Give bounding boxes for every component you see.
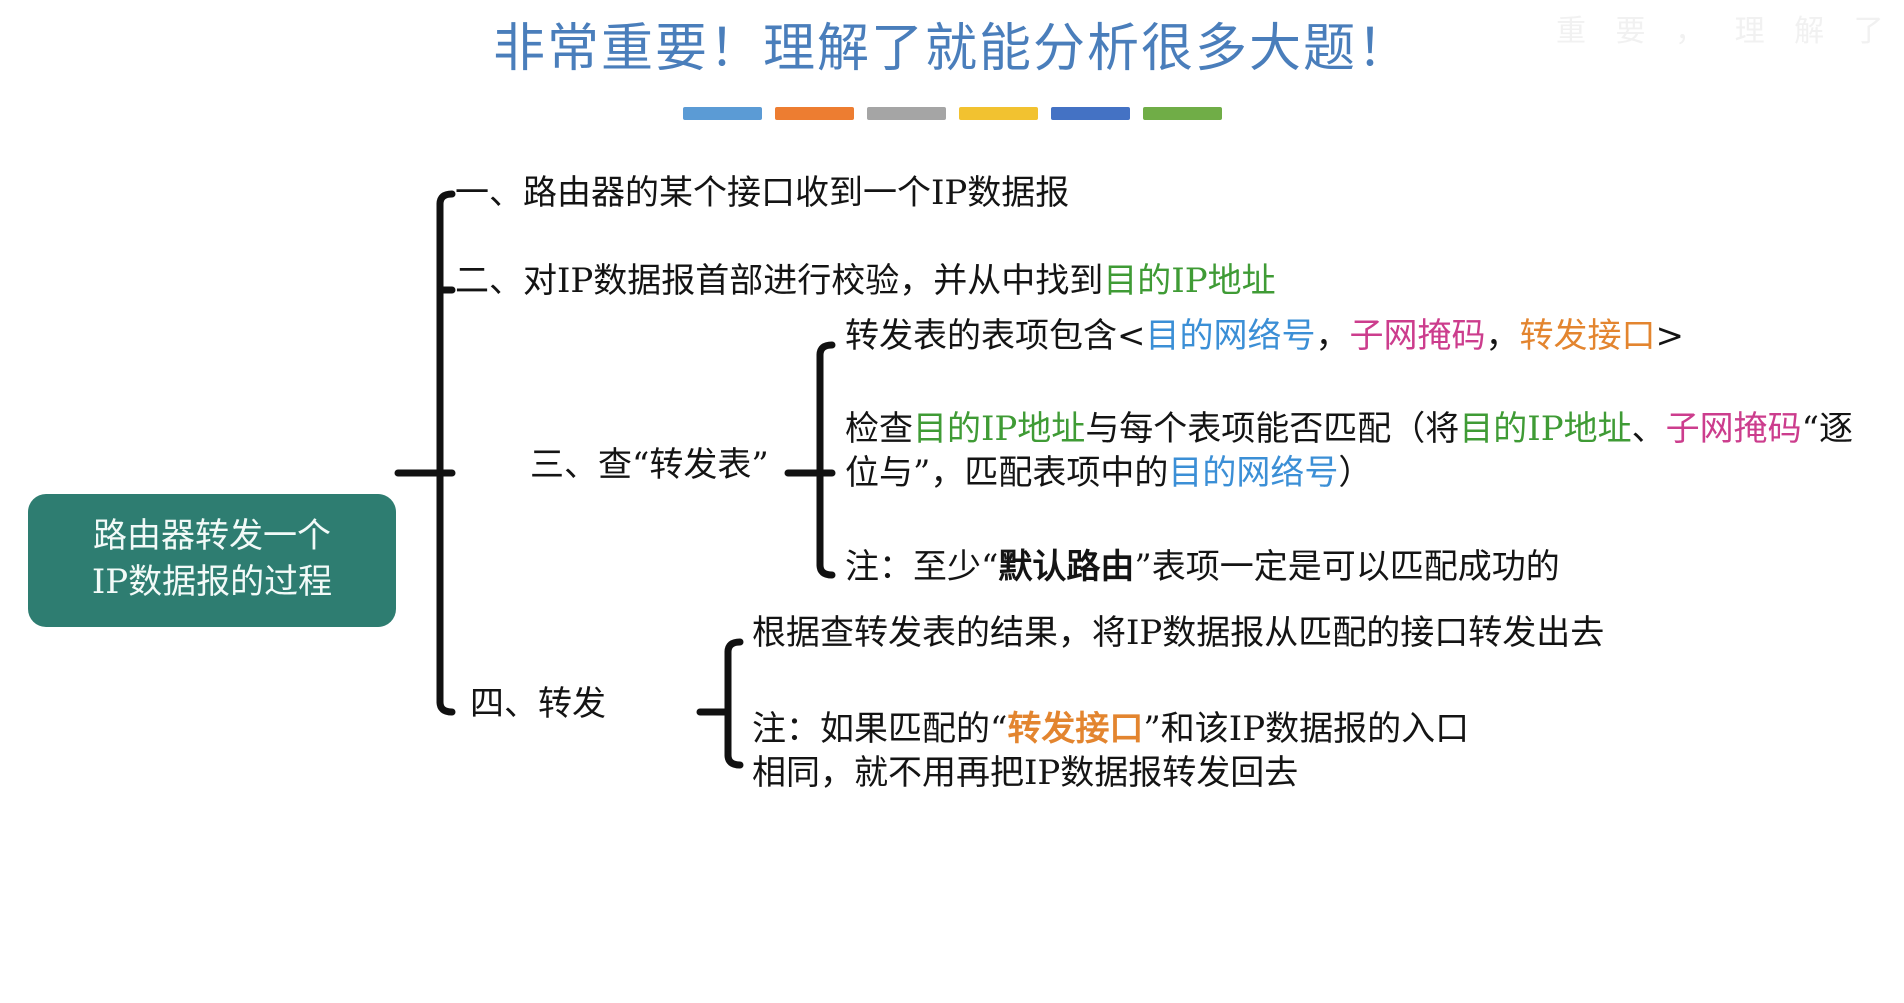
branch-4-item-same-interface-note[interactable]: 注：如果匹配的“转发接口”和该IP数据报的入口 相同，就不用再把IP数据报转发回… bbox=[752, 708, 1469, 795]
branch-3-item-default-route-note[interactable]: 注：至少“默认路由”表项一定是可以匹配成功的 bbox=[845, 546, 1560, 590]
accent-bar-green bbox=[1143, 107, 1222, 120]
branch-3-label[interactable]: 三、查“转发表” bbox=[530, 444, 769, 488]
mr-subnet-mask: 子网掩码 bbox=[1666, 409, 1802, 449]
branch-3-item-matching-rule[interactable]: 检查目的IP地址与每个表项能否匹配（将目的IP地址、子网掩码“逐位与”，匹配表项… bbox=[845, 408, 1880, 495]
branch-2-highlight: 目的IP地址 bbox=[1103, 261, 1275, 301]
mr-part-1: 检查 bbox=[845, 409, 913, 449]
branch-4-item-forward-result[interactable]: 根据查转发表的结果，将IP数据报从匹配的接口转发出去 bbox=[752, 612, 1604, 656]
accent-bar-row bbox=[0, 107, 1904, 120]
page-title: 非常重要！理解了就能分析很多大题！ bbox=[0, 6, 1904, 81]
sin-line-1: 注：如果匹配的“转发接口”和该IP数据报的入口 bbox=[752, 708, 1469, 752]
branch-4-label[interactable]: 四、转发 bbox=[470, 683, 606, 727]
accent-bar-darkblue bbox=[1051, 107, 1130, 120]
mr-part-3: 、 bbox=[1632, 409, 1666, 449]
mr-dest-ip-1: 目的IP地址 bbox=[913, 409, 1085, 449]
branch-2-label[interactable]: 二、对IP数据报首部进行校验，并从中找到目的IP地址 bbox=[455, 260, 1276, 304]
root-node-line1: 路由器转发一个 bbox=[38, 514, 386, 560]
branch-3-item-forwarding-table-entry[interactable]: 转发表的表项包含<目的网络号，子网掩码，转发接口> bbox=[845, 315, 1684, 359]
drn-default-route: 默认路由 bbox=[998, 547, 1134, 587]
drn-part-1: 注：至少“ bbox=[845, 547, 998, 587]
connector-l1-bottom bbox=[440, 702, 452, 712]
accent-bar-orange bbox=[775, 107, 854, 120]
drn-part-2: ”表项一定是可以匹配成功的 bbox=[1134, 547, 1559, 587]
mr-dest-ip-2: 目的IP地址 bbox=[1459, 409, 1631, 449]
mindmap: 路由器转发一个 IP数据报的过程 一、路由器的某个接口收到一个IP数据报 二、对… bbox=[0, 150, 1904, 1003]
fte-part-2: ， bbox=[1316, 316, 1350, 356]
sin-line-2: 相同，就不用再把IP数据报转发回去 bbox=[752, 752, 1469, 796]
fte-part-1: 转发表的表项包含< bbox=[845, 316, 1146, 356]
connector-b3-bottom bbox=[820, 565, 832, 575]
header: 重 要 ， 理 解 了 就 能 非常重要！理解了就能分析很多大题！ bbox=[0, 0, 1904, 150]
root-node-line2: IP数据报的过程 bbox=[38, 560, 386, 606]
sin-part-2: ”和该IP数据报的入口 bbox=[1143, 709, 1469, 749]
fte-forward-port: 转发接口 bbox=[1520, 316, 1656, 356]
accent-bar-yellow bbox=[959, 107, 1038, 120]
fte-dest-network: 目的网络号 bbox=[1146, 316, 1316, 356]
accent-bar-gray bbox=[867, 107, 946, 120]
sin-forward-port: 转发接口 bbox=[1007, 709, 1143, 749]
mr-dest-network: 目的网络号 bbox=[1168, 453, 1338, 493]
mr-part-2: 与每个表项能否匹配（将 bbox=[1085, 409, 1459, 449]
accent-bar-blue bbox=[683, 107, 762, 120]
branch-1-label[interactable]: 一、路由器的某个接口收到一个IP数据报 bbox=[455, 172, 1069, 216]
sin-part-1: 注：如果匹配的“ bbox=[752, 709, 1007, 749]
fte-part-3: ， bbox=[1486, 316, 1520, 356]
root-node[interactable]: 路由器转发一个 IP数据报的过程 bbox=[28, 494, 396, 627]
branch-2-prefix: 二、对IP数据报首部进行校验，并从中找到 bbox=[455, 261, 1103, 301]
mr-part-5: ） bbox=[1338, 453, 1372, 493]
fte-part-4: > bbox=[1656, 316, 1685, 356]
fte-subnet-mask: 子网掩码 bbox=[1350, 316, 1486, 356]
connector-b4-bottom bbox=[728, 755, 740, 765]
